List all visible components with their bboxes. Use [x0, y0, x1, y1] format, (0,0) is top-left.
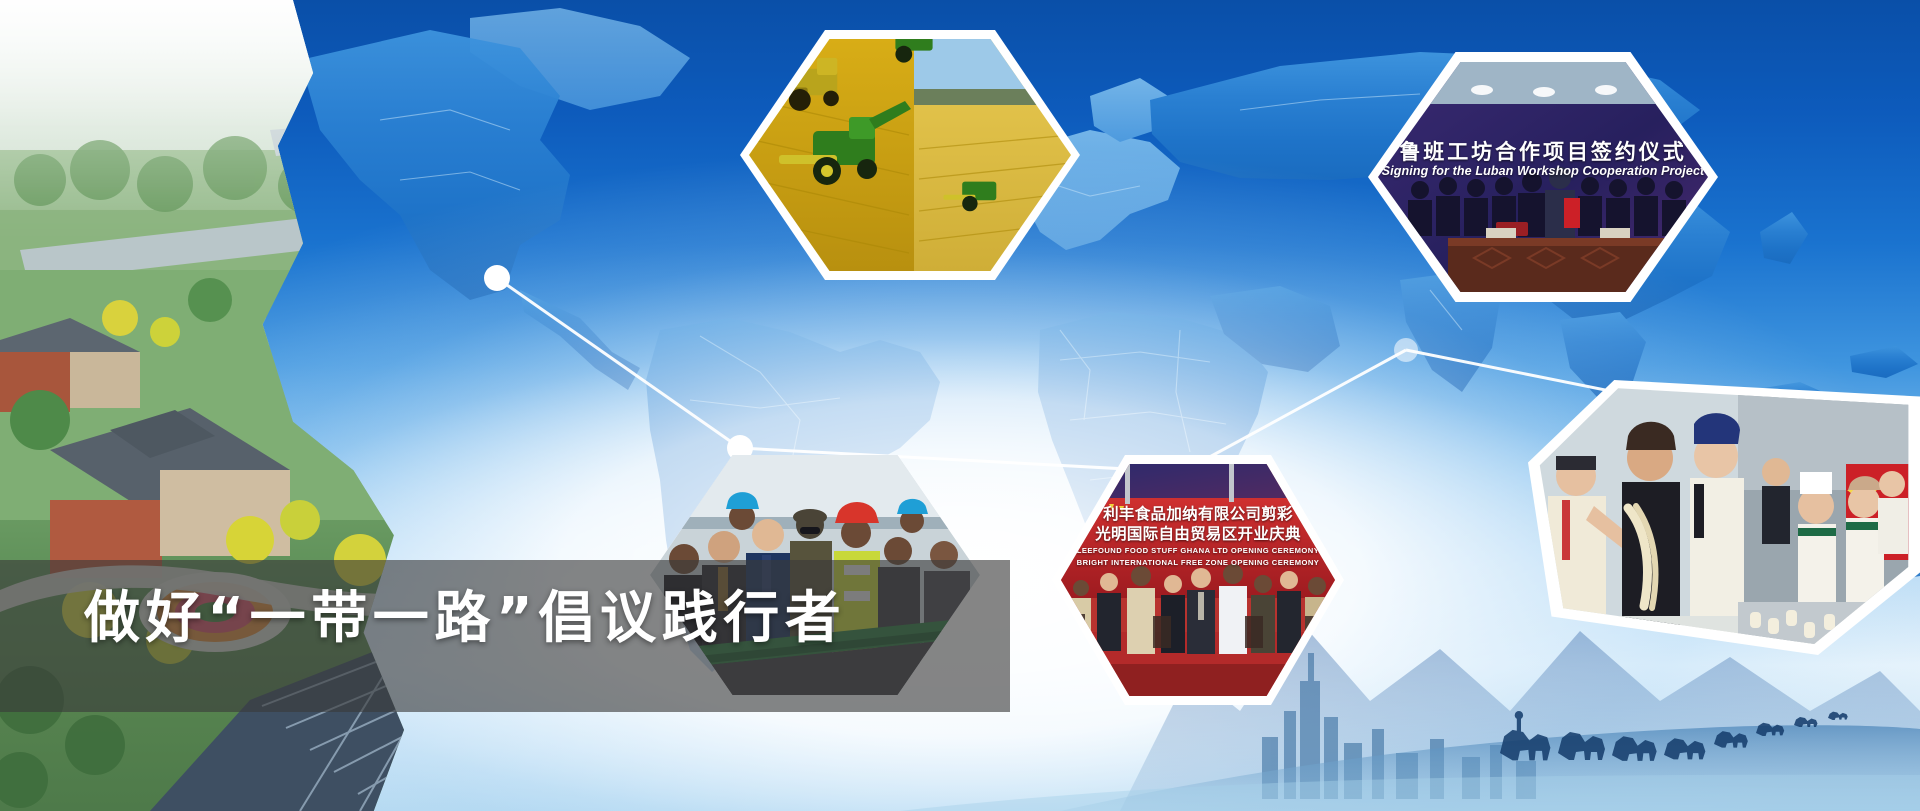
- leefound-banner-cn-2: 光明国际自由贸易区开业庆典: [1061, 522, 1335, 544]
- luban-banner-cn: 鲁班工坊合作项目签约仪式: [1378, 136, 1708, 166]
- page-title: 做好“一带一路”倡议践行者: [84, 578, 984, 659]
- photo-hex-culinary: [1528, 380, 1920, 655]
- banner-stage: 鲁班工坊合作项目签约仪式 Signing for the Luban Works…: [0, 0, 1920, 811]
- leefound-banner-en-1: LEEFOUND FOOD STUFF GHANA LTD OPENING CE…: [1061, 546, 1335, 555]
- leefound-banner-en-2: BRIGHT INTERNATIONAL FREE ZONE OPENING C…: [1061, 558, 1335, 567]
- leefound-banner-cn-1: 利丰食品加纳有限公司剪彩: [1061, 502, 1335, 524]
- ceremony-attendees: [1071, 564, 1329, 654]
- culinary-illustration: [1528, 380, 1920, 655]
- luban-banner-en: Signing for the Luban Workshop Cooperati…: [1378, 164, 1708, 178]
- leefound-illustration: [1061, 464, 1335, 696]
- harvest-illustration: [749, 39, 1071, 271]
